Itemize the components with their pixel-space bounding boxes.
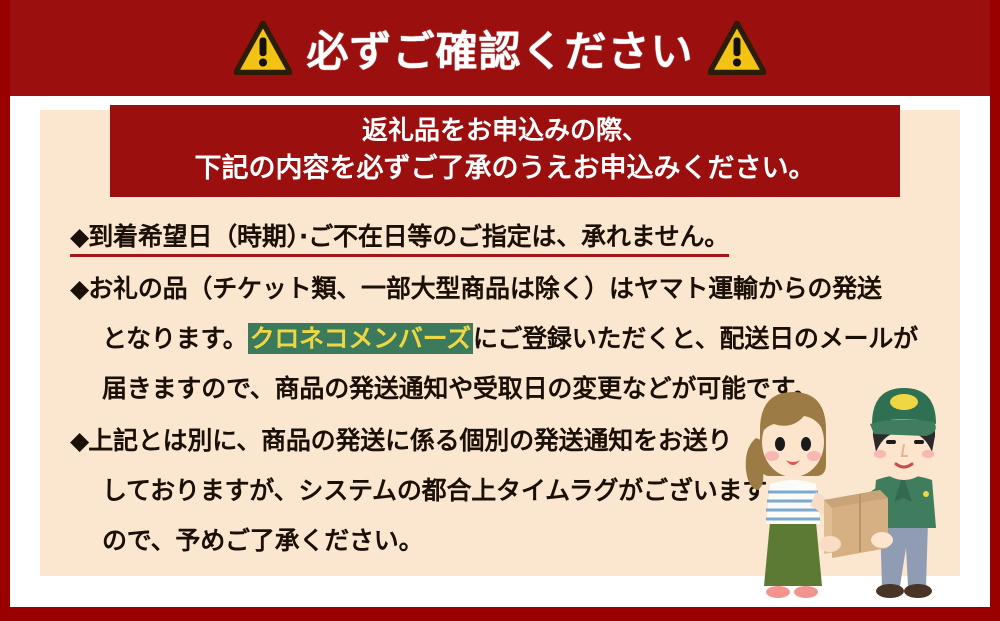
warning-triangle-icon: [708, 21, 766, 75]
bullet-item-yamato-shipping: ◆お礼の品（チケット類、一部大型商品は除く）はヤマト運輸からの発送 となります。…: [70, 264, 950, 414]
bullet-line-text: 届きますので、商品の発送通知や受取日の変更などが可能です。: [102, 374, 818, 403]
notice-card: 必ずご確認ください 返礼品をお申込みの際、 下記の内容を必ずご了承のうえお申込み…: [0, 0, 1000, 621]
notice-body: ◆到着希望日（時期）·ご不在日等のご指定は、承れません。 ◆お礼の品（チケット類…: [70, 212, 950, 568]
bullet-item-delivery-date: ◆到着希望日（時期）·ご不在日等のご指定は、承れません。: [70, 212, 950, 262]
bullet-item-individual-notice: ◆上記とは別に、商品の発送に係る個別の発送通知をお送り しておりますが、システム…: [70, 416, 950, 566]
bullet-marker: ◆: [70, 222, 88, 251]
bullet-line: ◆到着希望日（時期）·ご不在日等のご指定は、承れません。: [70, 212, 950, 262]
bullet-line-text: お礼の品（チケット類、一部大型商品は除く）はヤマト運輸からの発送: [88, 274, 882, 303]
sub-banner-line1: 返礼品をお申込みの際、: [362, 113, 648, 150]
bullet-line: ◆お礼の品（チケット類、一部大型商品は除く）はヤマト運輸からの発送: [70, 264, 950, 314]
bullet-line: ◆上記とは別に、商品の発送に係る個別の発送通知をお送り: [70, 416, 950, 466]
sub-banner: 返礼品をお申込みの際、 下記の内容を必ずご了承のうえお申込みください。: [110, 105, 900, 197]
woman-shoe-left: [766, 586, 790, 598]
bullet-line: 届きますので、商品の発送通知や受取日の変更などが可能です。: [70, 364, 950, 414]
bullet-marker: ◆: [70, 274, 88, 303]
bullet-line: ので、予めご了承ください。: [70, 516, 950, 566]
bullet-line-text: ので、予めご了承ください。: [102, 526, 423, 555]
header-banner: 必ずご確認ください: [0, 0, 1000, 96]
man-shoe-left: [876, 584, 904, 598]
bullet-marker: ◆: [70, 426, 88, 455]
sub-banner-line2: 下記の内容を必ずご了承のうえお申込みください。: [195, 150, 816, 188]
bullet-line-post: にご登録いただくと、配送日のメールが: [473, 324, 918, 353]
man-shoe-right: [904, 584, 932, 598]
bullet-line-text: 到着希望日（時期）·ご不在日等のご指定は、承れません。: [88, 222, 729, 251]
bullet-line: しておりますが、システムの都合上タイムラグがございます: [70, 466, 950, 516]
woman-shoe-right: [794, 586, 818, 598]
page-title: 必ずご確認ください: [306, 18, 693, 79]
bullet-line-text: 上記とは別に、商品の発送に係る個別の発送通知をお送り: [88, 426, 732, 455]
kuroneko-members-highlight: クロネコメンバーズ: [248, 323, 473, 354]
warning-triangle-icon: [234, 21, 292, 75]
bullet-line-text: しておりますが、システムの都合上タイムラグがございます: [102, 476, 767, 505]
bullet-line-pre: となります。: [102, 324, 248, 353]
bullet-line: となります。クロネコメンバーズにご登録いただくと、配送日のメールが: [70, 314, 950, 364]
